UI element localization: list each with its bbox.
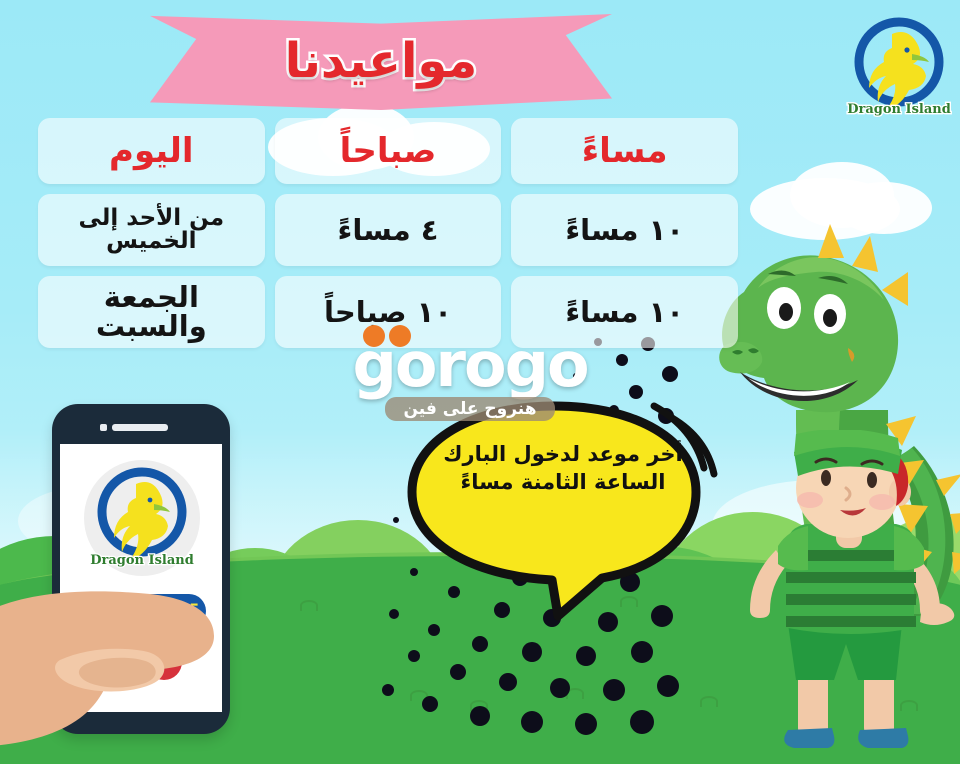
value-day: من الأحد إلى الخميس	[38, 207, 265, 253]
grass-tuft-icon	[700, 696, 718, 707]
poster-canvas: أخر موعد لدخول البارك الساعة الثامنة مسا…	[0, 0, 960, 764]
table-row: ١٠ مساءً ٤ مساءً من الأحد إلى الخميس	[38, 194, 738, 266]
brand-logo-label: Dragon Island	[847, 102, 951, 117]
cell-evening: ١٠ مساءً	[511, 194, 738, 266]
phone-camera-icon	[100, 424, 107, 431]
hand-holding-phone	[0, 540, 300, 764]
table-row: ١٠ مساءً ١٠ صباحاً الجمعة والسبت	[38, 276, 738, 348]
cell-day: الجمعة والسبت	[38, 276, 265, 348]
header-cell-day: اليوم	[38, 118, 265, 184]
cell-morning: ٤ مساءً	[275, 194, 502, 266]
boy-mascot	[736, 430, 960, 760]
value-morning: ١٠ صباحاً	[318, 298, 458, 327]
grass-tuft-icon	[300, 600, 318, 611]
header-cell-evening: مساءً	[511, 118, 738, 184]
brand-logo: Dragon Island	[846, 12, 952, 122]
table-header-row: مساءً صباحاً اليوم	[38, 118, 738, 184]
phone-speaker-icon	[112, 424, 168, 431]
notice-text: أخر موعد لدخول البارك الساعة الثامنة مسا…	[424, 440, 702, 497]
cell-day: من الأحد إلى الخميس	[38, 194, 265, 266]
page-title: مواعيدنا	[150, 18, 612, 104]
notice-line-2: الساعة الثامنة مساءً	[424, 468, 702, 496]
value-evening: ١٠ مساءً	[559, 216, 690, 245]
value-morning: ٤ مساءً	[332, 216, 445, 245]
notice-line-1: أخر موعد لدخول البارك	[424, 440, 702, 468]
header-label-morning: صباحاً	[334, 134, 443, 168]
cell-evening: ١٠ مساءً	[511, 276, 738, 348]
value-day: الجمعة والسبت	[38, 283, 265, 341]
header-label-day: اليوم	[103, 134, 200, 168]
speech-bubble	[396, 396, 726, 626]
header-label-evening: مساءً	[576, 134, 674, 168]
header-cell-morning: صباحاً	[275, 118, 502, 184]
cell-morning: ١٠ صباحاً	[275, 276, 502, 348]
value-evening: ١٠ مساءً	[559, 298, 690, 327]
schedule-table: مساءً صباحاً اليوم ١٠ مساءً ٤ مساءً من ا…	[38, 118, 738, 348]
